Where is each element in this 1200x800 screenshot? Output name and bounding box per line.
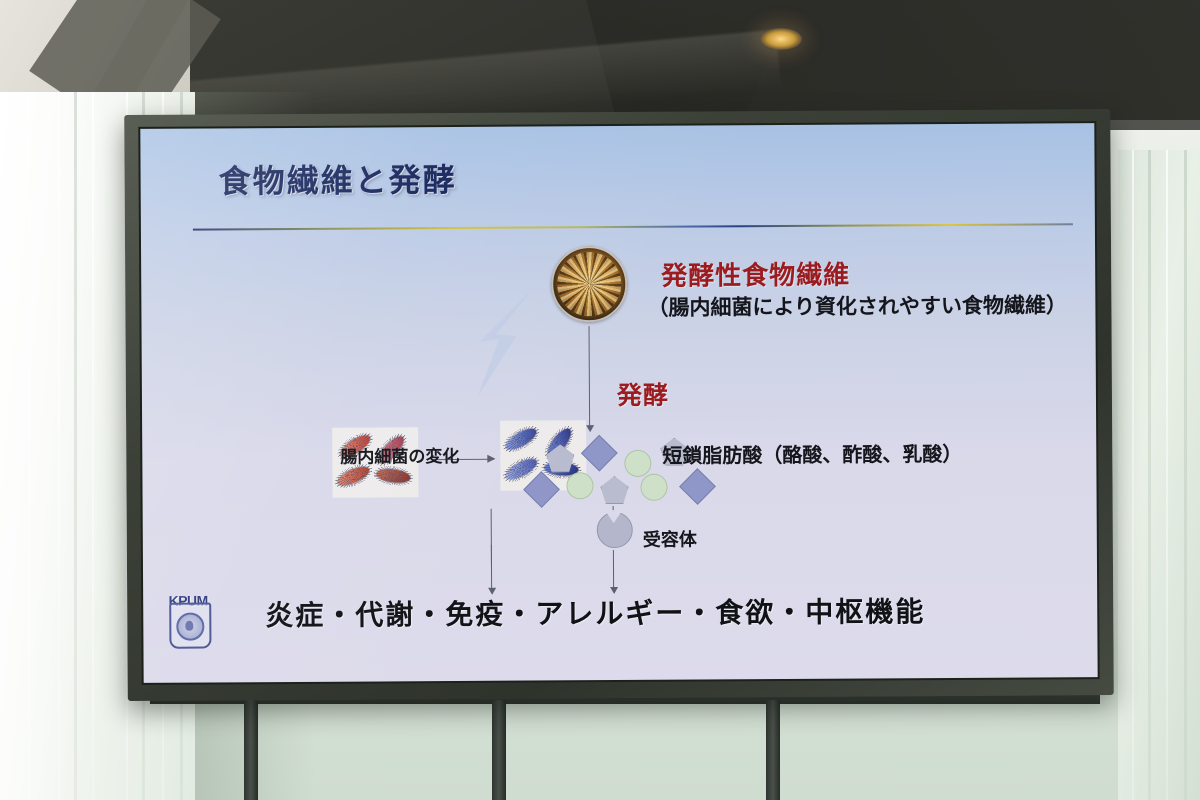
screen-stand-post-mid bbox=[492, 700, 506, 800]
screen-stand-post-right bbox=[766, 700, 780, 800]
molecule-diamond bbox=[679, 468, 716, 505]
flora-change-caption: 腸内細菌の変化 bbox=[340, 442, 459, 468]
lightning-bolt-icon bbox=[466, 281, 557, 404]
molecule-circle bbox=[566, 472, 593, 499]
fermentable-fiber-heading: 発酵性食物繊維 bbox=[661, 255, 850, 293]
spotlight-icon bbox=[760, 28, 802, 50]
scfa-label: 短鎖脂肪酸（酪酸、酢酸、乳酸） bbox=[662, 438, 962, 469]
molecule-pentagon bbox=[600, 476, 628, 504]
slide-title: 食物繊維と発酵 bbox=[218, 155, 456, 202]
receptor-arrow-lower bbox=[613, 550, 614, 588]
title-underline bbox=[193, 223, 1073, 230]
curtain-right bbox=[1118, 150, 1200, 800]
slide-canvas: 食物繊維と発酵 発酵性食物繊維 （腸内細菌により資化されやすい食物繊維） 発酵 bbox=[140, 123, 1097, 683]
presentation-screen[interactable]: 食物繊維と発酵 発酵性食物繊維 （腸内細菌により資化されやすい食物繊維） 発酵 bbox=[124, 109, 1114, 701]
receptor-label: 受容体 bbox=[643, 526, 697, 552]
outcome-arrow-left-lower bbox=[491, 545, 492, 589]
kpum-logo: KPUM bbox=[165, 592, 211, 644]
screen-stand-post-left bbox=[244, 700, 258, 800]
outcomes-line: 炎症・代謝・免疫・アレルギー・食欲・中枢機能 bbox=[265, 590, 925, 634]
screen-bezel: 食物繊維と発酵 発酵性食物繊維 （腸内細菌により資化されやすい食物繊維） 発酵 bbox=[138, 121, 1099, 685]
molecule-circle bbox=[640, 474, 667, 501]
food-bowl-rim bbox=[551, 246, 627, 322]
molecule-circle bbox=[624, 450, 651, 477]
molecule-diamond bbox=[581, 435, 618, 472]
photo-scene: 食物繊維と発酵 発酵性食物繊維 （腸内細菌により資化されやすい食物繊維） 発酵 bbox=[0, 0, 1200, 800]
kpum-logo-seal bbox=[176, 613, 204, 641]
fermentation-label: 発酵 bbox=[617, 376, 669, 412]
fermentable-fiber-note: （腸内細菌により資化されやすい食物繊維） bbox=[647, 291, 1097, 322]
fermentation-arrow bbox=[589, 326, 591, 426]
